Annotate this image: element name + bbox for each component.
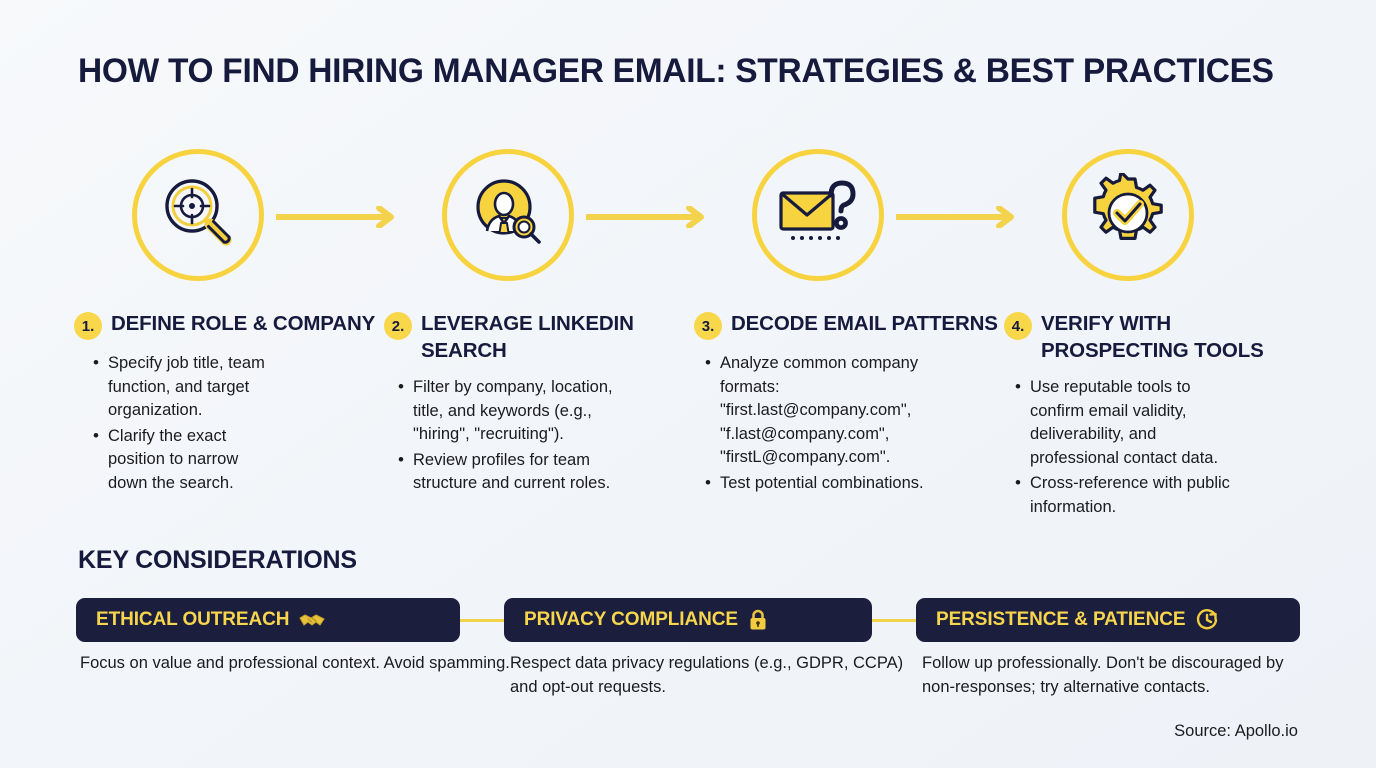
step-1-number-badge: 1. <box>74 312 102 340</box>
step-2-bullets: Filter by company, location, title, and … <box>380 376 628 496</box>
step-2-icon-row <box>380 140 690 290</box>
step-2: 2. LEVERAGE LINKEDIN SEARCH Filter by co… <box>380 140 690 498</box>
envelope-question-icon <box>775 173 861 258</box>
magnifier-target-icon <box>158 173 238 258</box>
step-2-icon-circle <box>442 149 574 281</box>
infographic-root: HOW TO FIND HIRING MANAGER EMAIL: STRATE… <box>0 0 1376 768</box>
caption-ethical-outreach: Focus on value and professional context.… <box>80 652 510 700</box>
page-title: HOW TO FIND HIRING MANAGER EMAIL: STRATE… <box>78 52 1274 91</box>
step-2-head: 2. LEVERAGE LINKEDIN SEARCH <box>380 310 690 364</box>
key-considerations-pills: ETHICAL OUTREACH PRIVACY COMPLIANCE <box>76 598 1300 642</box>
pill-ethical-outreach-label: ETHICAL OUTREACH <box>96 609 289 631</box>
clock-arrow-icon <box>1195 608 1219 632</box>
list-item: Test potential combinations. <box>720 472 940 496</box>
pill-persistence-patience-label: PERSISTENCE & PATIENCE <box>936 609 1185 631</box>
list-item: Clarify the exact position to narrow dow… <box>108 425 278 496</box>
step-1-head: 1. DEFINE ROLE & COMPANY <box>70 310 380 340</box>
step-4-icon-circle <box>1062 149 1194 281</box>
pill-privacy-compliance: PRIVACY COMPLIANCE <box>504 598 872 642</box>
lock-icon <box>748 609 768 631</box>
step-2-number-badge: 2. <box>384 312 412 340</box>
pill-persistence-patience: PERSISTENCE & PATIENCE <box>916 598 1300 642</box>
step-4-head: 4. VERIFY WITH PROSPECTING TOOLS <box>1000 310 1310 364</box>
person-search-icon <box>467 172 549 259</box>
step-4-title: VERIFY WITH PROSPECTING TOOLS <box>1041 310 1310 364</box>
pill-privacy-compliance-label: PRIVACY COMPLIANCE <box>524 609 738 631</box>
step-1-bullets: Specify job title, team function, and ta… <box>70 352 278 496</box>
step-4-number-badge: 4. <box>1004 312 1032 340</box>
step-3-head: 3. DECODE EMAIL PATTERNS <box>690 310 1000 340</box>
step-3-icon-row <box>690 140 1000 290</box>
caption-persistence-patience: Follow up professionally. Don't be disco… <box>922 652 1310 700</box>
step-4: 4. VERIFY WITH PROSPECTING TOOLS Use rep… <box>1000 140 1310 522</box>
step-3-title: DECODE EMAIL PATTERNS <box>731 310 998 337</box>
steps-row: 1. DEFINE ROLE & COMPANY Specify job tit… <box>70 140 1310 522</box>
caption-privacy-compliance: Respect data privacy regulations (e.g., … <box>510 652 922 700</box>
step-1-icon-circle <box>132 149 264 281</box>
step-3-bullets: Analyze common company formats: "first.l… <box>690 352 940 496</box>
list-item: Cross-reference with public information. <box>1030 472 1245 519</box>
list-item: Analyze common company formats: "first.l… <box>720 352 940 470</box>
source-attribution: Source: Apollo.io <box>1174 722 1298 741</box>
step-3: 3. DECODE EMAIL PATTERNS Analyze common … <box>690 140 1000 498</box>
step-1-icon-row <box>70 140 380 290</box>
step-1: 1. DEFINE ROLE & COMPANY Specify job tit… <box>70 140 380 498</box>
step-1-title: DEFINE ROLE & COMPANY <box>111 310 375 337</box>
step-4-bullets: Use reputable tools to confirm email val… <box>1000 376 1245 520</box>
list-item: Filter by company, location, title, and … <box>413 376 628 447</box>
step-2-title: LEVERAGE LINKEDIN SEARCH <box>421 310 690 364</box>
list-item: Review profiles for team structure and c… <box>413 449 628 496</box>
step-3-icon-circle <box>752 149 884 281</box>
key-considerations-captions: Focus on value and professional context.… <box>80 652 1310 700</box>
list-item: Specify job title, team function, and ta… <box>108 352 278 423</box>
pill-connector-1 <box>460 619 504 622</box>
key-considerations-heading: KEY CONSIDERATIONS <box>78 546 357 575</box>
gear-check-icon <box>1088 173 1168 258</box>
list-item: Use reputable tools to confirm email val… <box>1030 376 1245 470</box>
pill-connector-2 <box>872 619 916 622</box>
step-3-number-badge: 3. <box>694 312 722 340</box>
handshake-icon <box>299 610 325 630</box>
step-4-icon-row <box>1000 140 1310 290</box>
pill-ethical-outreach: ETHICAL OUTREACH <box>76 598 460 642</box>
